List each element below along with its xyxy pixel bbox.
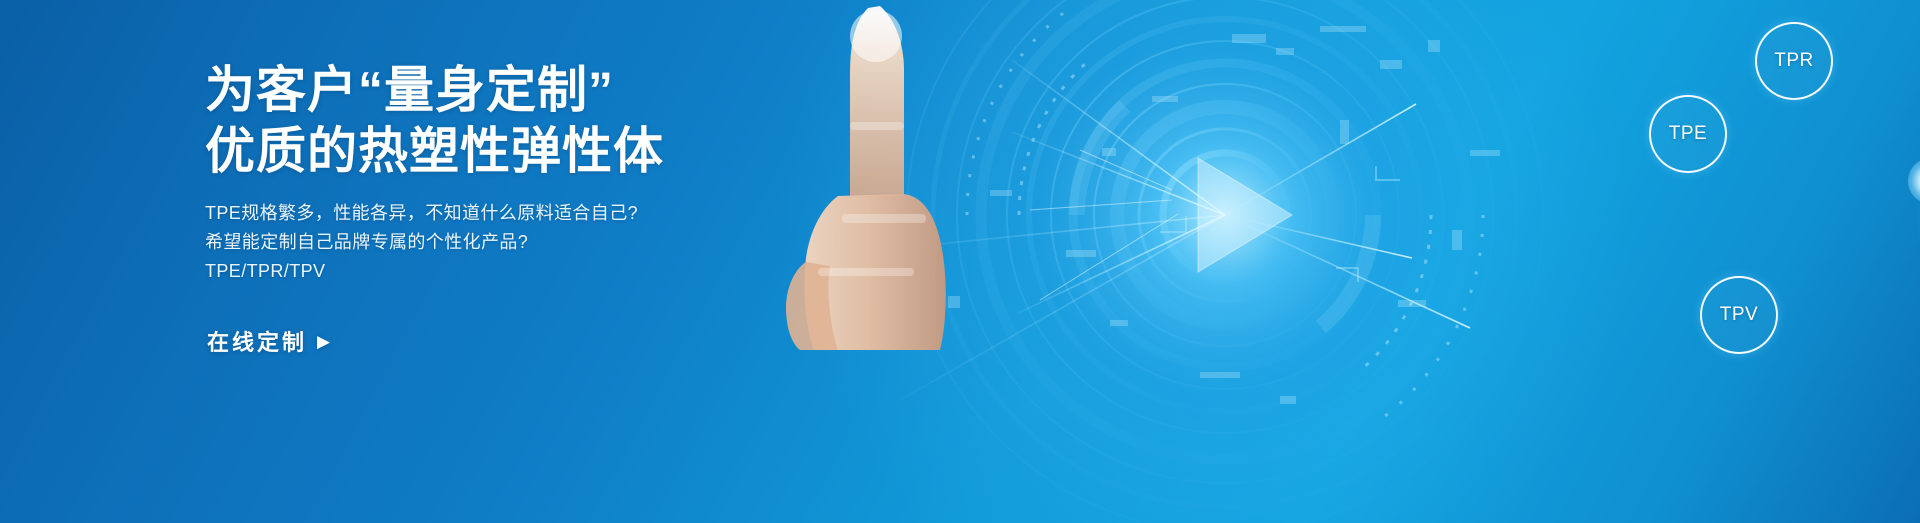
node-circle-tpr-0[interactable]: TPR bbox=[1755, 22, 1833, 100]
node-circle-label: TPV bbox=[1720, 304, 1758, 326]
tech-hub-illustration: TPRTPVTPETPETPVTPR bbox=[780, 0, 1920, 523]
online-customize-label: 在线定制 bbox=[207, 325, 307, 357]
node-circle-label: TPE bbox=[1669, 123, 1707, 145]
node-circle-tpv-4[interactable]: TPV bbox=[1700, 276, 1778, 354]
headline-line-1: 为客户“量身定制” bbox=[205, 62, 614, 118]
node-circle-tpe-2[interactable]: TPE bbox=[1649, 95, 1727, 173]
node-circle-label: TPR bbox=[1774, 50, 1814, 72]
hud-rings-svg bbox=[780, 0, 1920, 523]
online-customize-button[interactable]: 在线定制 ▶ bbox=[205, 321, 332, 361]
hero-banner: 为客户“量身定制” 优质的热塑性弹性体 TPE规格繁多，性能各异，不知道什么原料… bbox=[0, 0, 1920, 523]
play-arrow-icon: ▶ bbox=[317, 333, 330, 350]
